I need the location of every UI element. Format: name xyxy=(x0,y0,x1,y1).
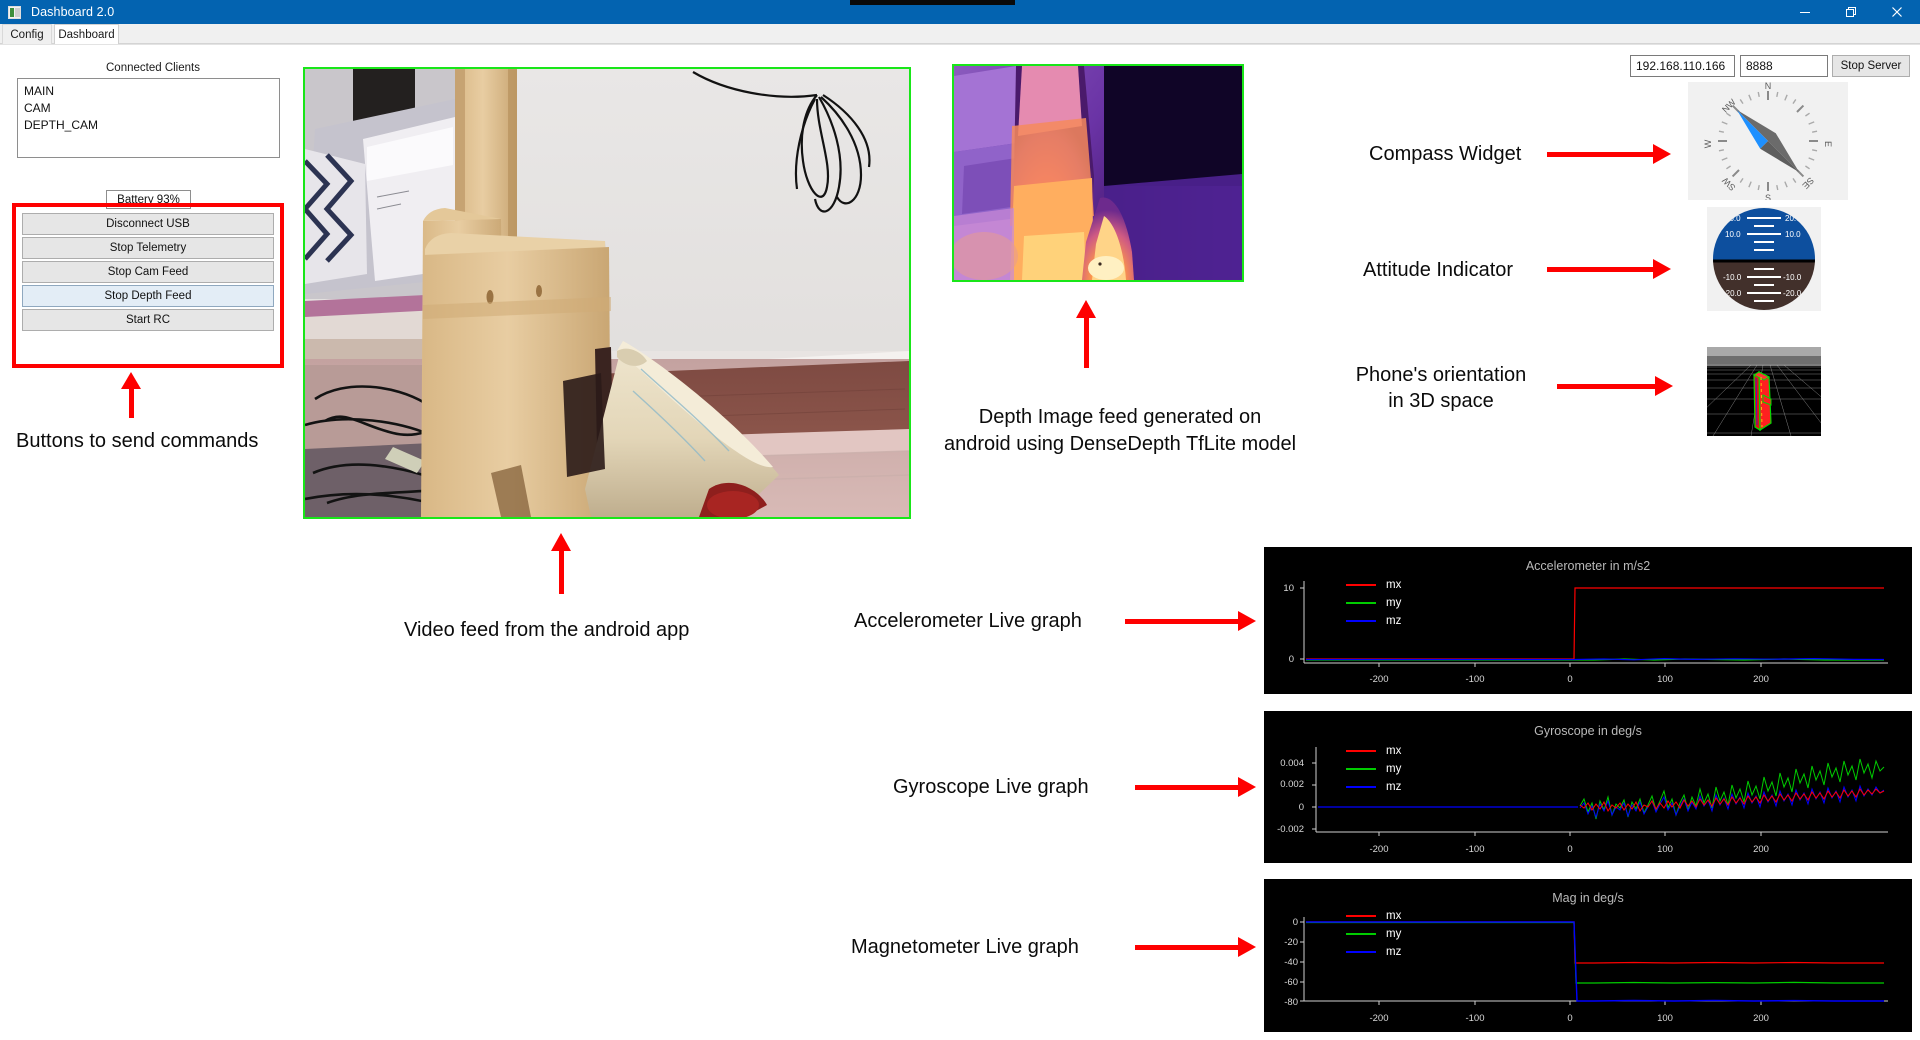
annotation-gyro-label: Gyroscope Live graph xyxy=(893,775,1089,800)
attitude-indicator-dial: 20.0 20.0 10.0 10.0 -10.0 -10.0 -20.0 -2… xyxy=(1707,207,1821,311)
svg-text:10.0: 10.0 xyxy=(1785,230,1801,239)
stop-depth-feed-button[interactable]: Stop Depth Feed xyxy=(22,285,274,307)
pitch-label-10: 10.0 xyxy=(1725,230,1741,239)
annotation-video-label: Video feed from the android app xyxy=(404,618,689,643)
depth-feed-panel[interactable] xyxy=(952,64,1244,282)
connected-clients-label: Connected Clients xyxy=(106,62,200,74)
video-feed-image xyxy=(305,69,909,517)
compass-widget[interactable]: N NE E SE S SW W NW xyxy=(1688,82,1848,200)
content-separator xyxy=(0,44,1920,45)
annotation-depth-line2: android using DenseDepth TfLite model xyxy=(900,432,1340,457)
phone-orientation-3d-widget[interactable] xyxy=(1707,347,1821,436)
svg-text:N: N xyxy=(1765,82,1772,91)
connected-clients-list[interactable]: MAIN CAM DEPTH_CAM xyxy=(17,78,280,158)
svg-text:SW: SW xyxy=(1720,175,1738,193)
video-feed-panel[interactable] xyxy=(303,67,911,519)
annotation-compass-label: Compass Widget xyxy=(1369,142,1521,167)
depth-feed-image xyxy=(954,66,1242,280)
list-item[interactable]: DEPTH_CAM xyxy=(24,117,273,134)
disconnect-usb-button[interactable]: Disconnect USB xyxy=(22,213,274,235)
gyroscope-plot xyxy=(1264,711,1912,863)
svg-text:E: E xyxy=(1823,141,1833,147)
stop-telemetry-button[interactable]: Stop Telemetry xyxy=(22,237,274,259)
svg-text:NW: NW xyxy=(1720,97,1738,115)
start-rc-button[interactable]: Start RC xyxy=(22,309,274,331)
accelerometer-plot xyxy=(1264,547,1912,694)
compass-dial: N NE E SE S SW W NW xyxy=(1688,82,1848,200)
annotation-attitude-label: Attitude Indicator xyxy=(1363,258,1513,283)
annotation-buttons-label: Buttons to send commands xyxy=(16,429,258,454)
stop-server-button[interactable]: Stop Server xyxy=(1832,55,1910,77)
list-item[interactable]: CAM xyxy=(24,100,273,117)
annotation-pose-line1: Phone's orientation xyxy=(1330,363,1552,388)
annotation-mag-label: Magnetometer Live graph xyxy=(851,935,1079,960)
window-controls xyxy=(1782,0,1920,24)
list-item[interactable]: MAIN xyxy=(24,83,273,100)
screen-notch xyxy=(850,0,1015,5)
dashboard-window: Dashboard 2.0 Config Dashboard Conn xyxy=(0,0,1920,1040)
stop-cam-feed-button[interactable]: Stop Cam Feed xyxy=(22,261,274,283)
close-icon[interactable] xyxy=(1874,0,1920,24)
pitch-label-neg10: -10.0 xyxy=(1723,273,1742,282)
title-bar: Dashboard 2.0 xyxy=(0,0,1920,24)
annotation-depth-line1: Depth Image feed generated on xyxy=(920,405,1320,430)
tab-strip: Config Dashboard xyxy=(0,24,1920,44)
magnetometer-plot xyxy=(1264,879,1912,1032)
app-icon xyxy=(8,6,21,19)
server-ip-input[interactable]: 192.168.110.166 xyxy=(1630,55,1735,77)
svg-text:W: W xyxy=(1703,139,1713,148)
attitude-indicator-widget[interactable]: 20.0 20.0 10.0 10.0 -10.0 -10.0 -20.0 -2… xyxy=(1707,207,1821,311)
restore-icon[interactable] xyxy=(1828,0,1874,24)
server-port-input[interactable]: 8888 xyxy=(1740,55,1828,77)
annotation-pose-line2: in 3D space xyxy=(1330,389,1552,414)
accelerometer-graph[interactable]: Accelerometer in m/s2 mx my mz 10 0 -200… xyxy=(1264,547,1912,694)
tab-config[interactable]: Config xyxy=(2,24,52,44)
annotation-accel-label: Accelerometer Live graph xyxy=(854,609,1082,634)
minimize-icon[interactable] xyxy=(1782,0,1828,24)
gyroscope-graph[interactable]: Gyroscope in deg/s mx my mz 0.004 0.002 … xyxy=(1264,711,1912,863)
window-title: Dashboard 2.0 xyxy=(31,5,114,19)
tab-dashboard[interactable]: Dashboard xyxy=(54,24,119,45)
magnetometer-graph[interactable]: Mag in deg/s mx my mz 0 -20 -40 -60 -80 … xyxy=(1264,879,1912,1032)
svg-text:-10.0: -10.0 xyxy=(1783,273,1802,282)
svg-text:SE: SE xyxy=(1800,175,1816,191)
svg-text:S: S xyxy=(1765,193,1771,200)
pose-3d-scene xyxy=(1707,347,1821,436)
